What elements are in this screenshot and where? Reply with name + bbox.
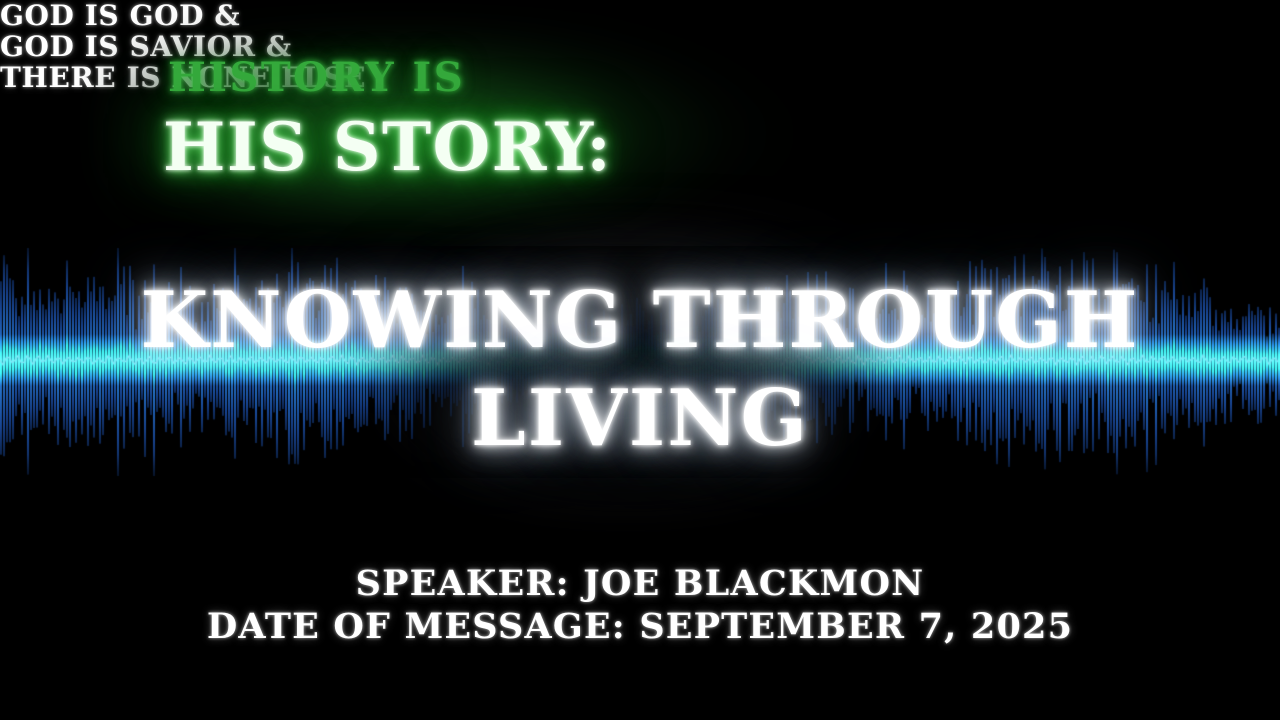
series-eyebrow-text: HISTORY IS	[168, 54, 465, 101]
speaker-line: SPEAKER: JOE BLACKMON	[0, 562, 1280, 605]
message-title-block: KNOWING THROUGH LIVING	[0, 272, 1280, 468]
message-title-line-2: LIVING	[0, 370, 1280, 468]
series-title-text: HIS STORY:	[163, 108, 612, 186]
tagline-line-1: GOD IS GOD &	[0, 0, 1280, 31]
date-line: DATE OF MESSAGE: SEPTEMBER 7, 2025	[0, 605, 1280, 648]
credits-block: SPEAKER: JOE BLACKMON DATE OF MESSAGE: S…	[0, 562, 1280, 648]
message-title-line-1: KNOWING THROUGH	[0, 272, 1280, 370]
title-card: HISTORY IS HIS STORY: GOD IS GOD & GOD I…	[0, 0, 1280, 720]
